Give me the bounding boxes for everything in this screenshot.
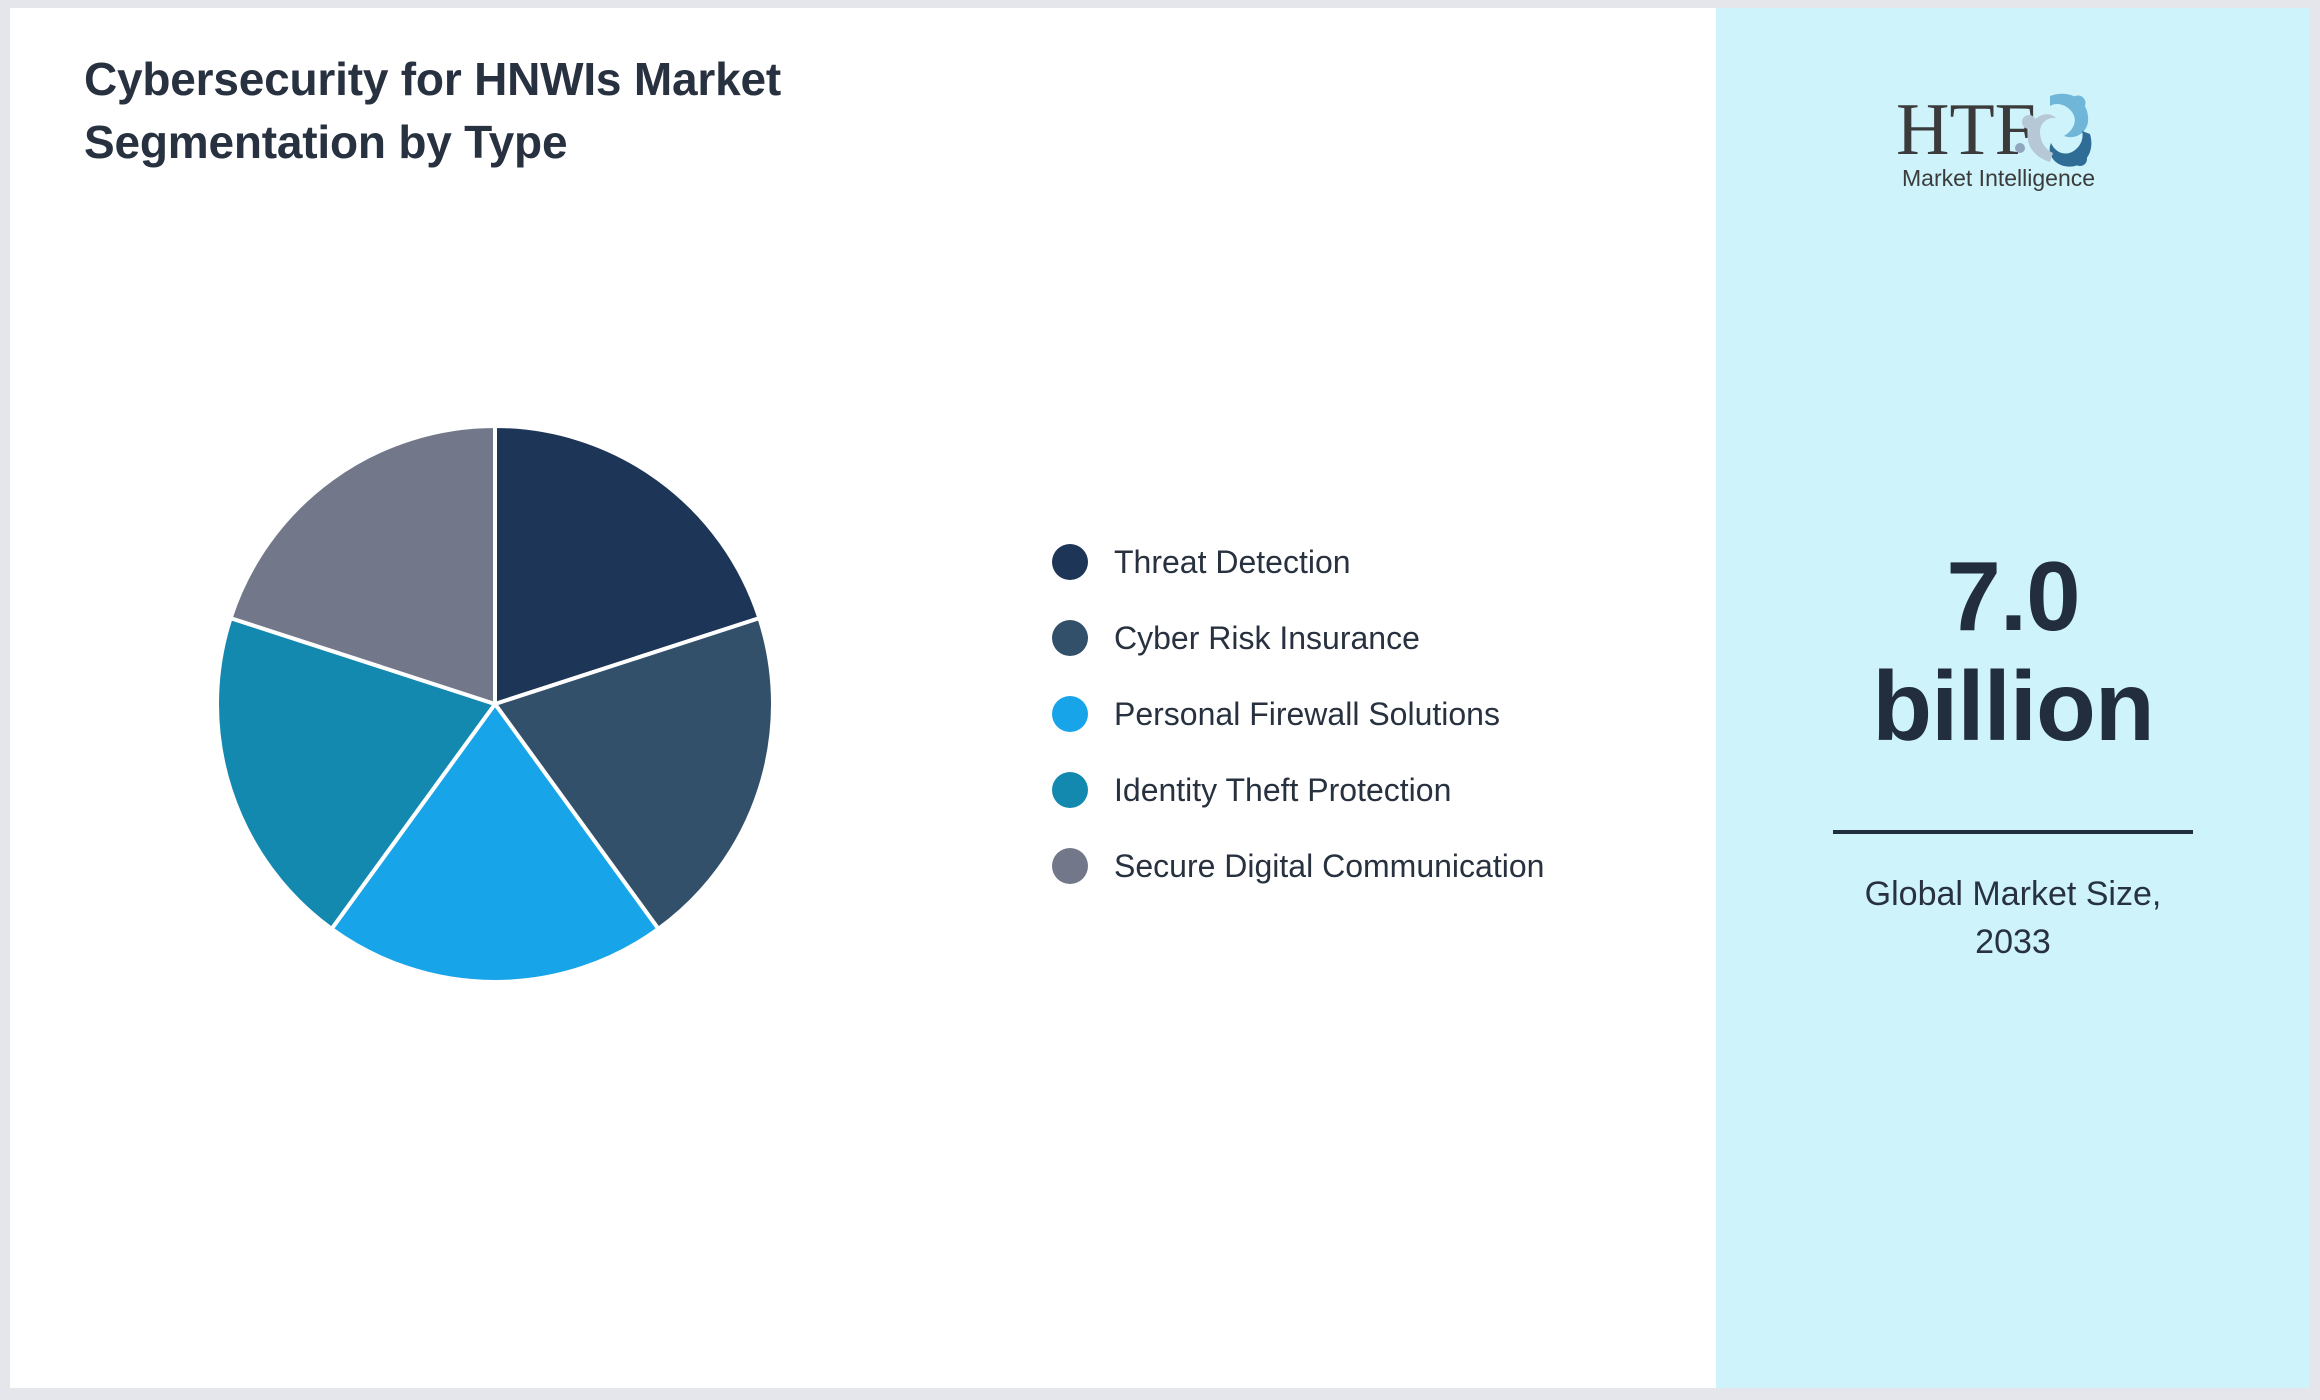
- page-title: Cybersecurity for HNWIs Market Segmentat…: [84, 48, 1084, 173]
- legend-swatch-icon: [1052, 772, 1088, 808]
- chart-legend: Threat Detection Cyber Risk Insurance Pe…: [1052, 524, 1672, 904]
- stat-divider: [1833, 830, 2193, 834]
- stat-caption-line-1: Global Market Size,: [1763, 870, 2263, 918]
- stat-caption: Global Market Size, 2033: [1763, 870, 2263, 967]
- page-title-line-1: Cybersecurity for HNWIs Market: [84, 48, 1084, 111]
- infographic-card: Cybersecurity for HNWIs Market Segmentat…: [10, 8, 2310, 1388]
- stat-value-number: 7.0: [1716, 542, 2310, 652]
- legend-item-threat-detection[interactable]: Threat Detection: [1052, 524, 1672, 600]
- legend-item-label: Secure Digital Communication: [1114, 850, 1544, 882]
- svg-text:Market Intelligence: Market Intelligence: [1902, 165, 2095, 191]
- pie-chart: [217, 426, 773, 982]
- screenshot-canvas: Cybersecurity for HNWIs Market Segmentat…: [0, 0, 2320, 1400]
- stat-caption-line-2: 2033: [1763, 918, 2263, 966]
- pie-chart-svg: [217, 426, 773, 982]
- legend-swatch-icon: [1052, 544, 1088, 580]
- svg-text:HTF: HTF: [1896, 89, 2036, 171]
- legend-swatch-icon: [1052, 696, 1088, 732]
- legend-item-label: Identity Theft Protection: [1114, 774, 1451, 806]
- legend-swatch-icon: [1052, 848, 1088, 884]
- legend-item-label: Personal Firewall Solutions: [1114, 698, 1500, 730]
- legend-item-cyber-risk-insurance[interactable]: Cyber Risk Insurance: [1052, 600, 1672, 676]
- legend-item-secure-digital-communication[interactable]: Secure Digital Communication: [1052, 828, 1672, 904]
- legend-item-personal-firewall-solutions[interactable]: Personal Firewall Solutions: [1052, 676, 1672, 752]
- stat-value-unit: billion: [1716, 652, 2310, 762]
- htf-market-intelligence-logo-icon: HTF Mar: [1888, 76, 2138, 194]
- stat-sidebar: HTF Mar: [1716, 8, 2310, 1388]
- legend-swatch-icon: [1052, 620, 1088, 656]
- legend-item-identity-theft-protection[interactable]: Identity Theft Protection: [1052, 752, 1672, 828]
- page-title-line-2: Segmentation by Type: [84, 111, 1084, 174]
- stat-value: 7.0 billion: [1716, 542, 2310, 762]
- legend-item-label: Threat Detection: [1114, 546, 1351, 578]
- legend-item-label: Cyber Risk Insurance: [1114, 622, 1420, 654]
